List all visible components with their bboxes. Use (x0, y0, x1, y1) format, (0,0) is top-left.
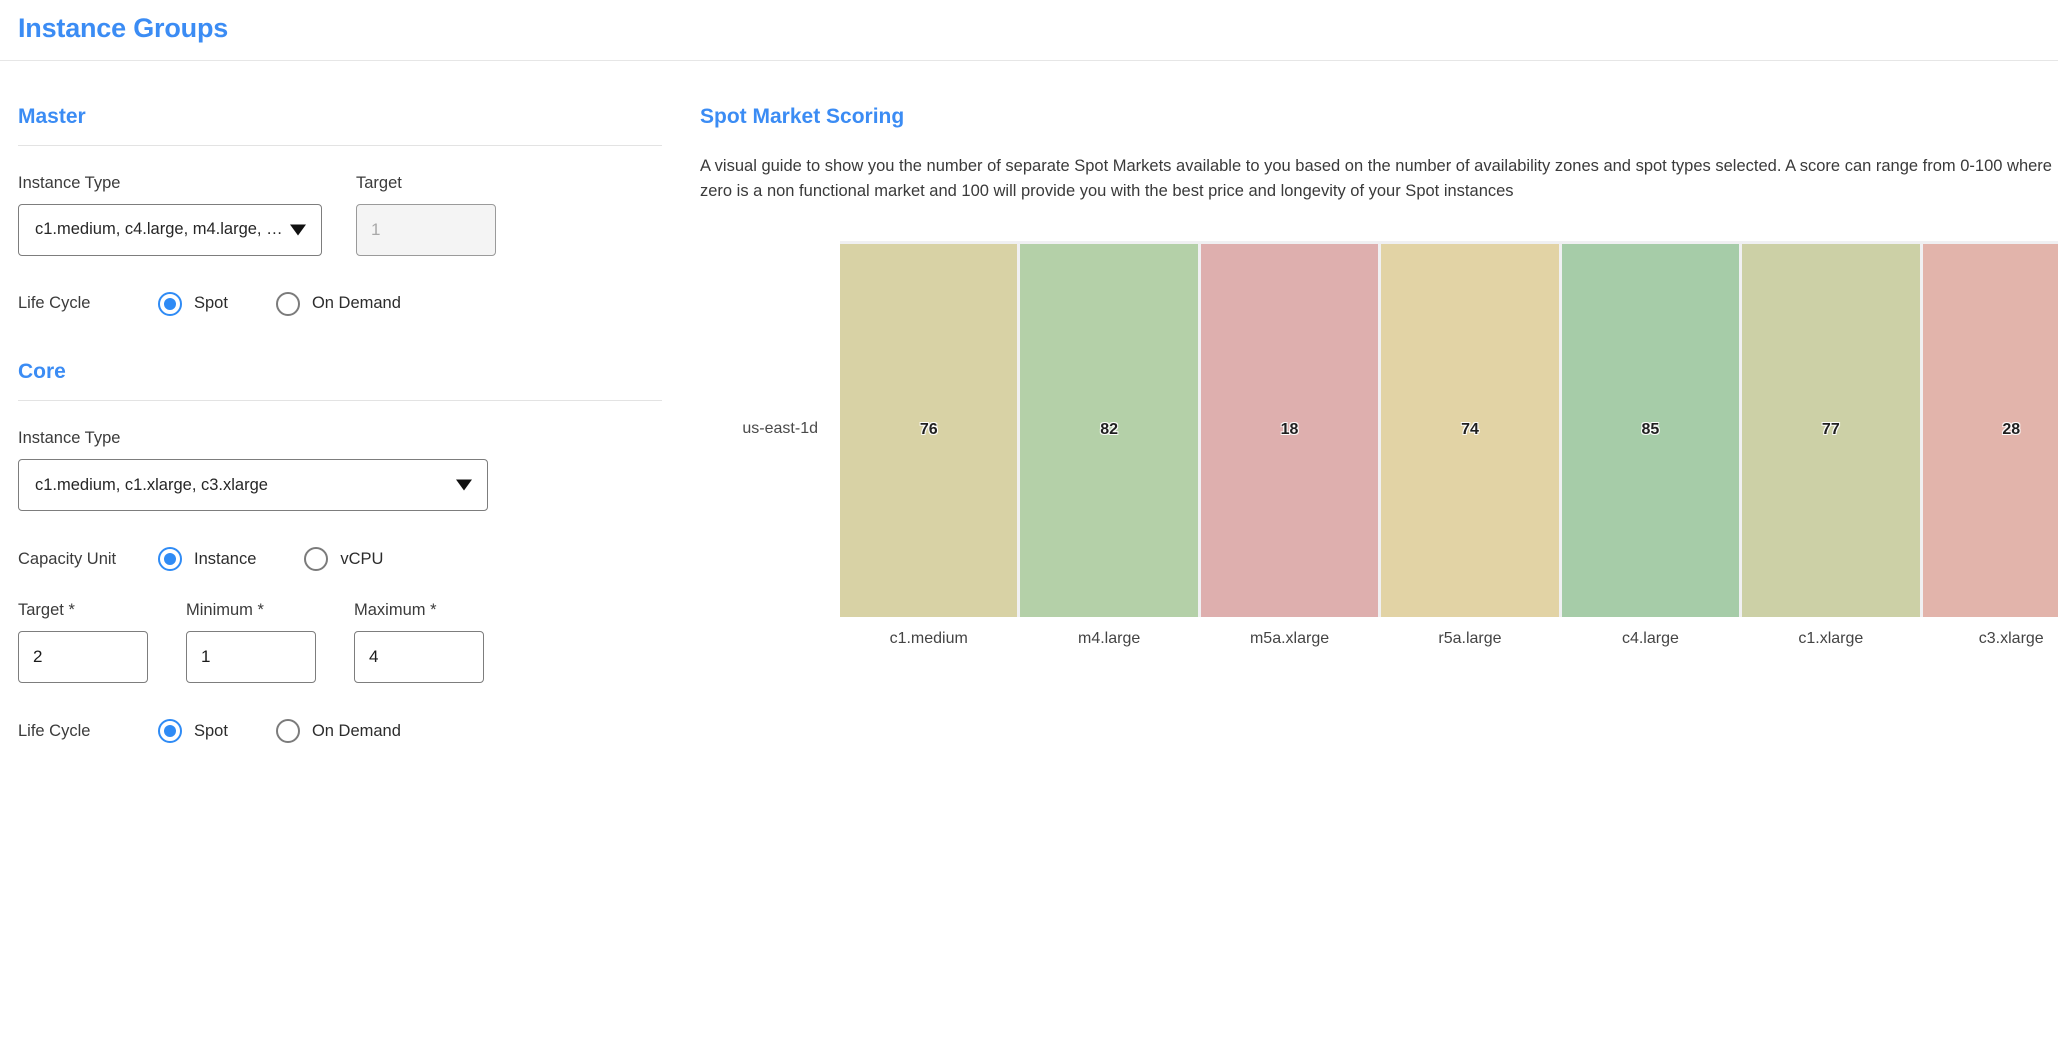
core-minimum-input[interactable] (186, 631, 316, 683)
heatmap-inner: us-east-1d 76821874857728 c1.mediumm4.la… (700, 241, 2058, 661)
core-section: Core Instance Type c1.medium, c1.xlarge,… (18, 360, 680, 743)
page-header: Instance Groups (0, 0, 2058, 61)
heatmap-cell[interactable]: 76 (840, 244, 1017, 617)
core-maximum-label: Maximum * (354, 601, 484, 619)
heatmap-cell-value: 18 (1281, 421, 1299, 439)
heatmap-cell[interactable]: 85 (1562, 244, 1739, 617)
core-target-label: Target * (18, 601, 148, 619)
core-capacity-unit-label: Capacity Unit (18, 550, 158, 569)
master-life-cycle-spot[interactable]: Spot (158, 292, 228, 316)
core-instance-type-label: Instance Type (18, 429, 488, 447)
radio-selected-icon (158, 547, 182, 571)
core-life-cycle-row: Life Cycle Spot On Demand (18, 719, 680, 743)
heatmap-cell[interactable]: 74 (1381, 244, 1558, 617)
heatmap-x-tick: m4.large (1020, 630, 1197, 648)
core-capacity-unit-instance-label: Instance (194, 550, 256, 569)
core-capacity-unit-row: Capacity Unit Instance vCPU (18, 547, 680, 571)
core-maximum-group: Maximum * (354, 601, 484, 683)
spot-market-section: Spot Market Scoring A visual guide to sh… (700, 105, 2058, 661)
page-body: Master Instance Type c1.medium, c4.large… (0, 61, 2058, 744)
heatmap-cell-value: 82 (1100, 421, 1118, 439)
heatmap-cell-value: 85 (1642, 421, 1660, 439)
heatmap-x-tick: r5a.large (1381, 630, 1558, 648)
heatmap-cells: 76821874857728 (840, 241, 2058, 617)
master-section-title: Master (18, 105, 680, 128)
core-capacity-fields-row: Target * Minimum * Maximum * (18, 601, 680, 683)
radio-unselected-icon (276, 719, 300, 743)
heatmap-x-tick: c1.medium (840, 630, 1017, 648)
core-minimum-group: Minimum * (186, 601, 316, 683)
core-life-cycle-on-demand[interactable]: On Demand (276, 719, 401, 743)
heatmap-cell[interactable]: 82 (1020, 244, 1197, 617)
core-capacity-unit-vcpu-label: vCPU (340, 550, 383, 569)
core-minimum-label: Minimum * (186, 601, 316, 619)
heatmap-cell-value: 74 (1461, 421, 1479, 439)
master-life-cycle-label: Life Cycle (18, 294, 158, 313)
radio-selected-icon (158, 292, 182, 316)
heatmap-x-axis: c1.mediumm4.largem5a.xlarger5a.largec4.l… (840, 617, 2058, 661)
master-life-cycle-spot-label: Spot (194, 294, 228, 313)
heatmap-cell[interactable]: 77 (1742, 244, 1919, 617)
chevron-down-icon (456, 480, 472, 491)
heatmap-cell[interactable]: 28 (1923, 244, 2058, 617)
master-life-cycle-on-demand[interactable]: On Demand (276, 292, 401, 316)
core-life-cycle-spot-label: Spot (194, 722, 228, 741)
heatmap-x-tick: c4.large (1562, 630, 1739, 648)
page-title: Instance Groups (18, 14, 2038, 44)
radio-unselected-icon (276, 292, 300, 316)
core-maximum-input[interactable] (354, 631, 484, 683)
core-target-input[interactable] (18, 631, 148, 683)
master-instance-type-select[interactable]: c1.medium, c4.large, m4.large, … (18, 204, 322, 256)
heatmap-plot-column: 76821874857728 c1.mediumm4.largem5a.xlar… (840, 241, 2058, 661)
master-instance-type-value: c1.medium, c4.large, m4.large, … (35, 220, 283, 239)
heatmap-x-tick: m5a.xlarge (1201, 630, 1378, 648)
core-capacity-unit-instance[interactable]: Instance (158, 547, 256, 571)
core-instance-type-value: c1.medium, c1.xlarge, c3.xlarge (35, 476, 268, 495)
chevron-down-icon (290, 224, 306, 235)
master-instance-type-group: Instance Type c1.medium, c4.large, m4.la… (18, 174, 322, 256)
core-life-cycle-on-demand-label: On Demand (312, 722, 401, 741)
core-divider (18, 400, 662, 401)
heatmap-y-axis: us-east-1d (700, 241, 840, 661)
heatmap-cell-value: 28 (2002, 421, 2020, 439)
core-life-cycle-label: Life Cycle (18, 722, 158, 741)
heatmap-x-tick: c1.xlarge (1742, 630, 1919, 648)
heatmap-y-tick: us-east-1d (742, 420, 818, 438)
heatmap-cell-value: 77 (1822, 421, 1840, 439)
core-instance-type-group: Instance Type c1.medium, c1.xlarge, c3.x… (18, 429, 488, 511)
master-instance-type-label: Instance Type (18, 174, 322, 192)
instance-groups-form: Master Instance Type c1.medium, c4.large… (0, 61, 700, 744)
radio-selected-icon (158, 719, 182, 743)
heatmap-x-tick: c3.xlarge (1923, 630, 2058, 648)
master-life-cycle-row: Life Cycle Spot On Demand (18, 292, 680, 316)
master-section: Master Instance Type c1.medium, c4.large… (18, 105, 680, 316)
radio-unselected-icon (304, 547, 328, 571)
core-section-title: Core (18, 360, 680, 383)
spot-market-description: A visual guide to show you the number of… (700, 154, 2058, 205)
master-life-cycle-on-demand-label: On Demand (312, 294, 401, 313)
master-fields-row: Instance Type c1.medium, c4.large, m4.la… (18, 174, 680, 256)
master-divider (18, 145, 662, 146)
core-instance-type-row: Instance Type c1.medium, c1.xlarge, c3.x… (18, 429, 680, 511)
core-capacity-unit-vcpu[interactable]: vCPU (304, 547, 383, 571)
master-target-input[interactable] (356, 204, 496, 256)
master-target-label: Target (356, 174, 496, 192)
heatmap-cell[interactable]: 18 (1201, 244, 1378, 617)
spot-market-heatmap: us-east-1d 76821874857728 c1.mediumm4.la… (700, 241, 2058, 661)
core-life-cycle-spot[interactable]: Spot (158, 719, 228, 743)
spot-market-title: Spot Market Scoring (700, 105, 2058, 128)
spot-market-scoring-panel: Spot Market Scoring A visual guide to sh… (700, 61, 2058, 661)
master-target-group: Target (356, 174, 496, 256)
core-target-group: Target * (18, 601, 148, 683)
core-instance-type-select[interactable]: c1.medium, c1.xlarge, c3.xlarge (18, 459, 488, 511)
heatmap-cell-value: 76 (920, 421, 938, 439)
